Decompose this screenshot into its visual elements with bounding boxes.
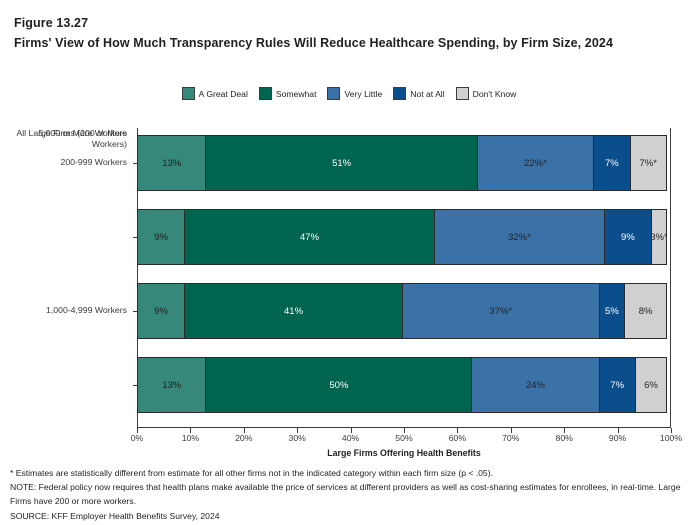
bar-segment-label: 9% <box>154 306 168 317</box>
bar-segment[interactable]: 5% <box>599 283 626 339</box>
bar-segment[interactable]: 7%* <box>630 135 667 191</box>
footnotes: * Estimates are statistically different … <box>10 466 688 523</box>
x-axis-tick-label: 90% <box>609 433 626 443</box>
bar-segment-label: 7% <box>610 380 624 391</box>
x-axis-tick-label: 10% <box>182 433 199 443</box>
chart-legend: A Great DealSomewhatVery LittleNot at Al… <box>0 87 698 100</box>
bar-segment[interactable]: 47% <box>184 209 435 265</box>
page-title: Firms' View of How Much Transparency Rul… <box>14 33 674 53</box>
bar-segment-label: 9% <box>154 232 168 243</box>
bar-segment-label: 7% <box>605 158 619 169</box>
footnote-line: * Estimates are statistically different … <box>10 466 688 480</box>
bar-segment[interactable]: 32%* <box>434 209 605 265</box>
bar-segment[interactable]: 24% <box>471 357 599 413</box>
x-axis-tick-label: 60% <box>449 433 466 443</box>
bar-segment[interactable]: 3%* <box>651 209 667 265</box>
bar-segment-label: 37%* <box>489 306 512 317</box>
stacked-bar-row: 9%41%37%*5%8% <box>137 283 671 339</box>
bar-segment-label: 6% <box>644 380 658 391</box>
bar-segment-label: 8% <box>639 306 653 317</box>
legend-swatch-icon <box>393 87 406 100</box>
bar-segment[interactable]: 7% <box>599 357 636 413</box>
x-axis-tick-label: 30% <box>288 433 305 443</box>
legend-swatch-icon <box>456 87 469 100</box>
legend-item: A Great Deal <box>182 87 248 100</box>
x-axis-tick-label: 40% <box>342 433 359 443</box>
footnote-line: SOURCE: KFF Employer Health Benefits Sur… <box>10 509 688 523</box>
legend-item: Very Little <box>327 87 382 100</box>
bar-segment-label: 9% <box>621 232 635 243</box>
title-block: Figure 13.27 Firms' View of How Much Tra… <box>14 13 674 53</box>
bar-segment[interactable]: 37%* <box>402 283 600 339</box>
bar-segment-label: 13% <box>162 158 181 169</box>
y-axis-category-label: 200-999 Workers <box>0 157 127 168</box>
legend-item: Not at All <box>393 87 444 100</box>
y-axis-category-label: 1,000-4,999 Workers <box>0 305 127 316</box>
stacked-bar-row: 9%47%32%*9%3%* <box>137 209 671 265</box>
bar-segment-label: 32%* <box>508 232 531 243</box>
legend-item: Somewhat <box>259 87 317 100</box>
bar-segment-label: 51% <box>332 158 351 169</box>
bar-segment-label: 5% <box>605 306 619 317</box>
bar-segment-label: 22%* <box>524 158 547 169</box>
bar-segment[interactable]: 50% <box>205 357 472 413</box>
bar-segment-label: 13% <box>162 380 181 391</box>
bar-segment[interactable]: 22%* <box>477 135 594 191</box>
legend-swatch-icon <box>327 87 340 100</box>
x-axis-tick-labels: 0%10%20%30%40%50%60%70%80%90%100% <box>137 433 671 447</box>
legend-item-label: Not at All <box>410 89 444 99</box>
x-axis-tick-label: 0% <box>131 433 144 443</box>
legend-item-label: Don't Know <box>473 89 517 99</box>
legend-item-label: Somewhat <box>276 89 317 99</box>
bar-segment-label: 50% <box>329 380 348 391</box>
legend-item-label: Very Little <box>344 89 382 99</box>
bar-segment[interactable]: 51% <box>205 135 477 191</box>
x-axis-tick-label: 50% <box>395 433 412 443</box>
legend-swatch-icon <box>259 87 272 100</box>
bar-segment-label: 7%* <box>640 158 657 169</box>
bar-segment[interactable]: 9% <box>137 283 185 339</box>
x-axis-title: Large Firms Offering Health Benefits <box>137 448 671 458</box>
footnote-line: NOTE: Federal policy now requires that h… <box>10 480 688 508</box>
plot-area: 200-999 Workers1,000-4,999 Workers5,000 … <box>0 120 698 450</box>
bar-segment[interactable]: 6% <box>635 357 667 413</box>
bar-segment[interactable]: 13% <box>137 357 206 413</box>
x-axis-tick-label: 20% <box>235 433 252 443</box>
bar-segment-label: 24% <box>526 380 545 391</box>
bar-segment[interactable]: 13% <box>137 135 206 191</box>
bar-segment-label: 41% <box>284 306 303 317</box>
bar-segment-label: 3%* <box>651 232 667 243</box>
y-axis-labels: 200-999 Workers1,000-4,999 Workers5,000 … <box>0 128 133 428</box>
bar-segment-label: 47% <box>300 232 319 243</box>
legend-item-label: A Great Deal <box>199 89 248 99</box>
stacked-bar-rows: 13%51%22%*7%7%*9%47%32%*9%3%*9%41%37%*5%… <box>137 128 671 428</box>
bar-segment[interactable]: 8% <box>624 283 667 339</box>
bar-segment[interactable]: 9% <box>137 209 185 265</box>
x-axis-tick-label: 80% <box>555 433 572 443</box>
stacked-bar-row: 13%51%22%*7%7%* <box>137 135 671 191</box>
bar-segment[interactable]: 41% <box>184 283 403 339</box>
x-axis-tick-label: 70% <box>502 433 519 443</box>
y-axis-category-label: All Large Firms (200 or More Workers) <box>0 128 127 150</box>
figure-number: Figure 13.27 <box>14 13 674 33</box>
x-axis-tick-label: 100% <box>660 433 682 443</box>
legend-swatch-icon <box>182 87 195 100</box>
bar-segment[interactable]: 9% <box>604 209 652 265</box>
stacked-bar-row: 13%50%24%7%6% <box>137 357 671 413</box>
legend-item: Don't Know <box>456 87 517 100</box>
bar-segment[interactable]: 7% <box>593 135 630 191</box>
